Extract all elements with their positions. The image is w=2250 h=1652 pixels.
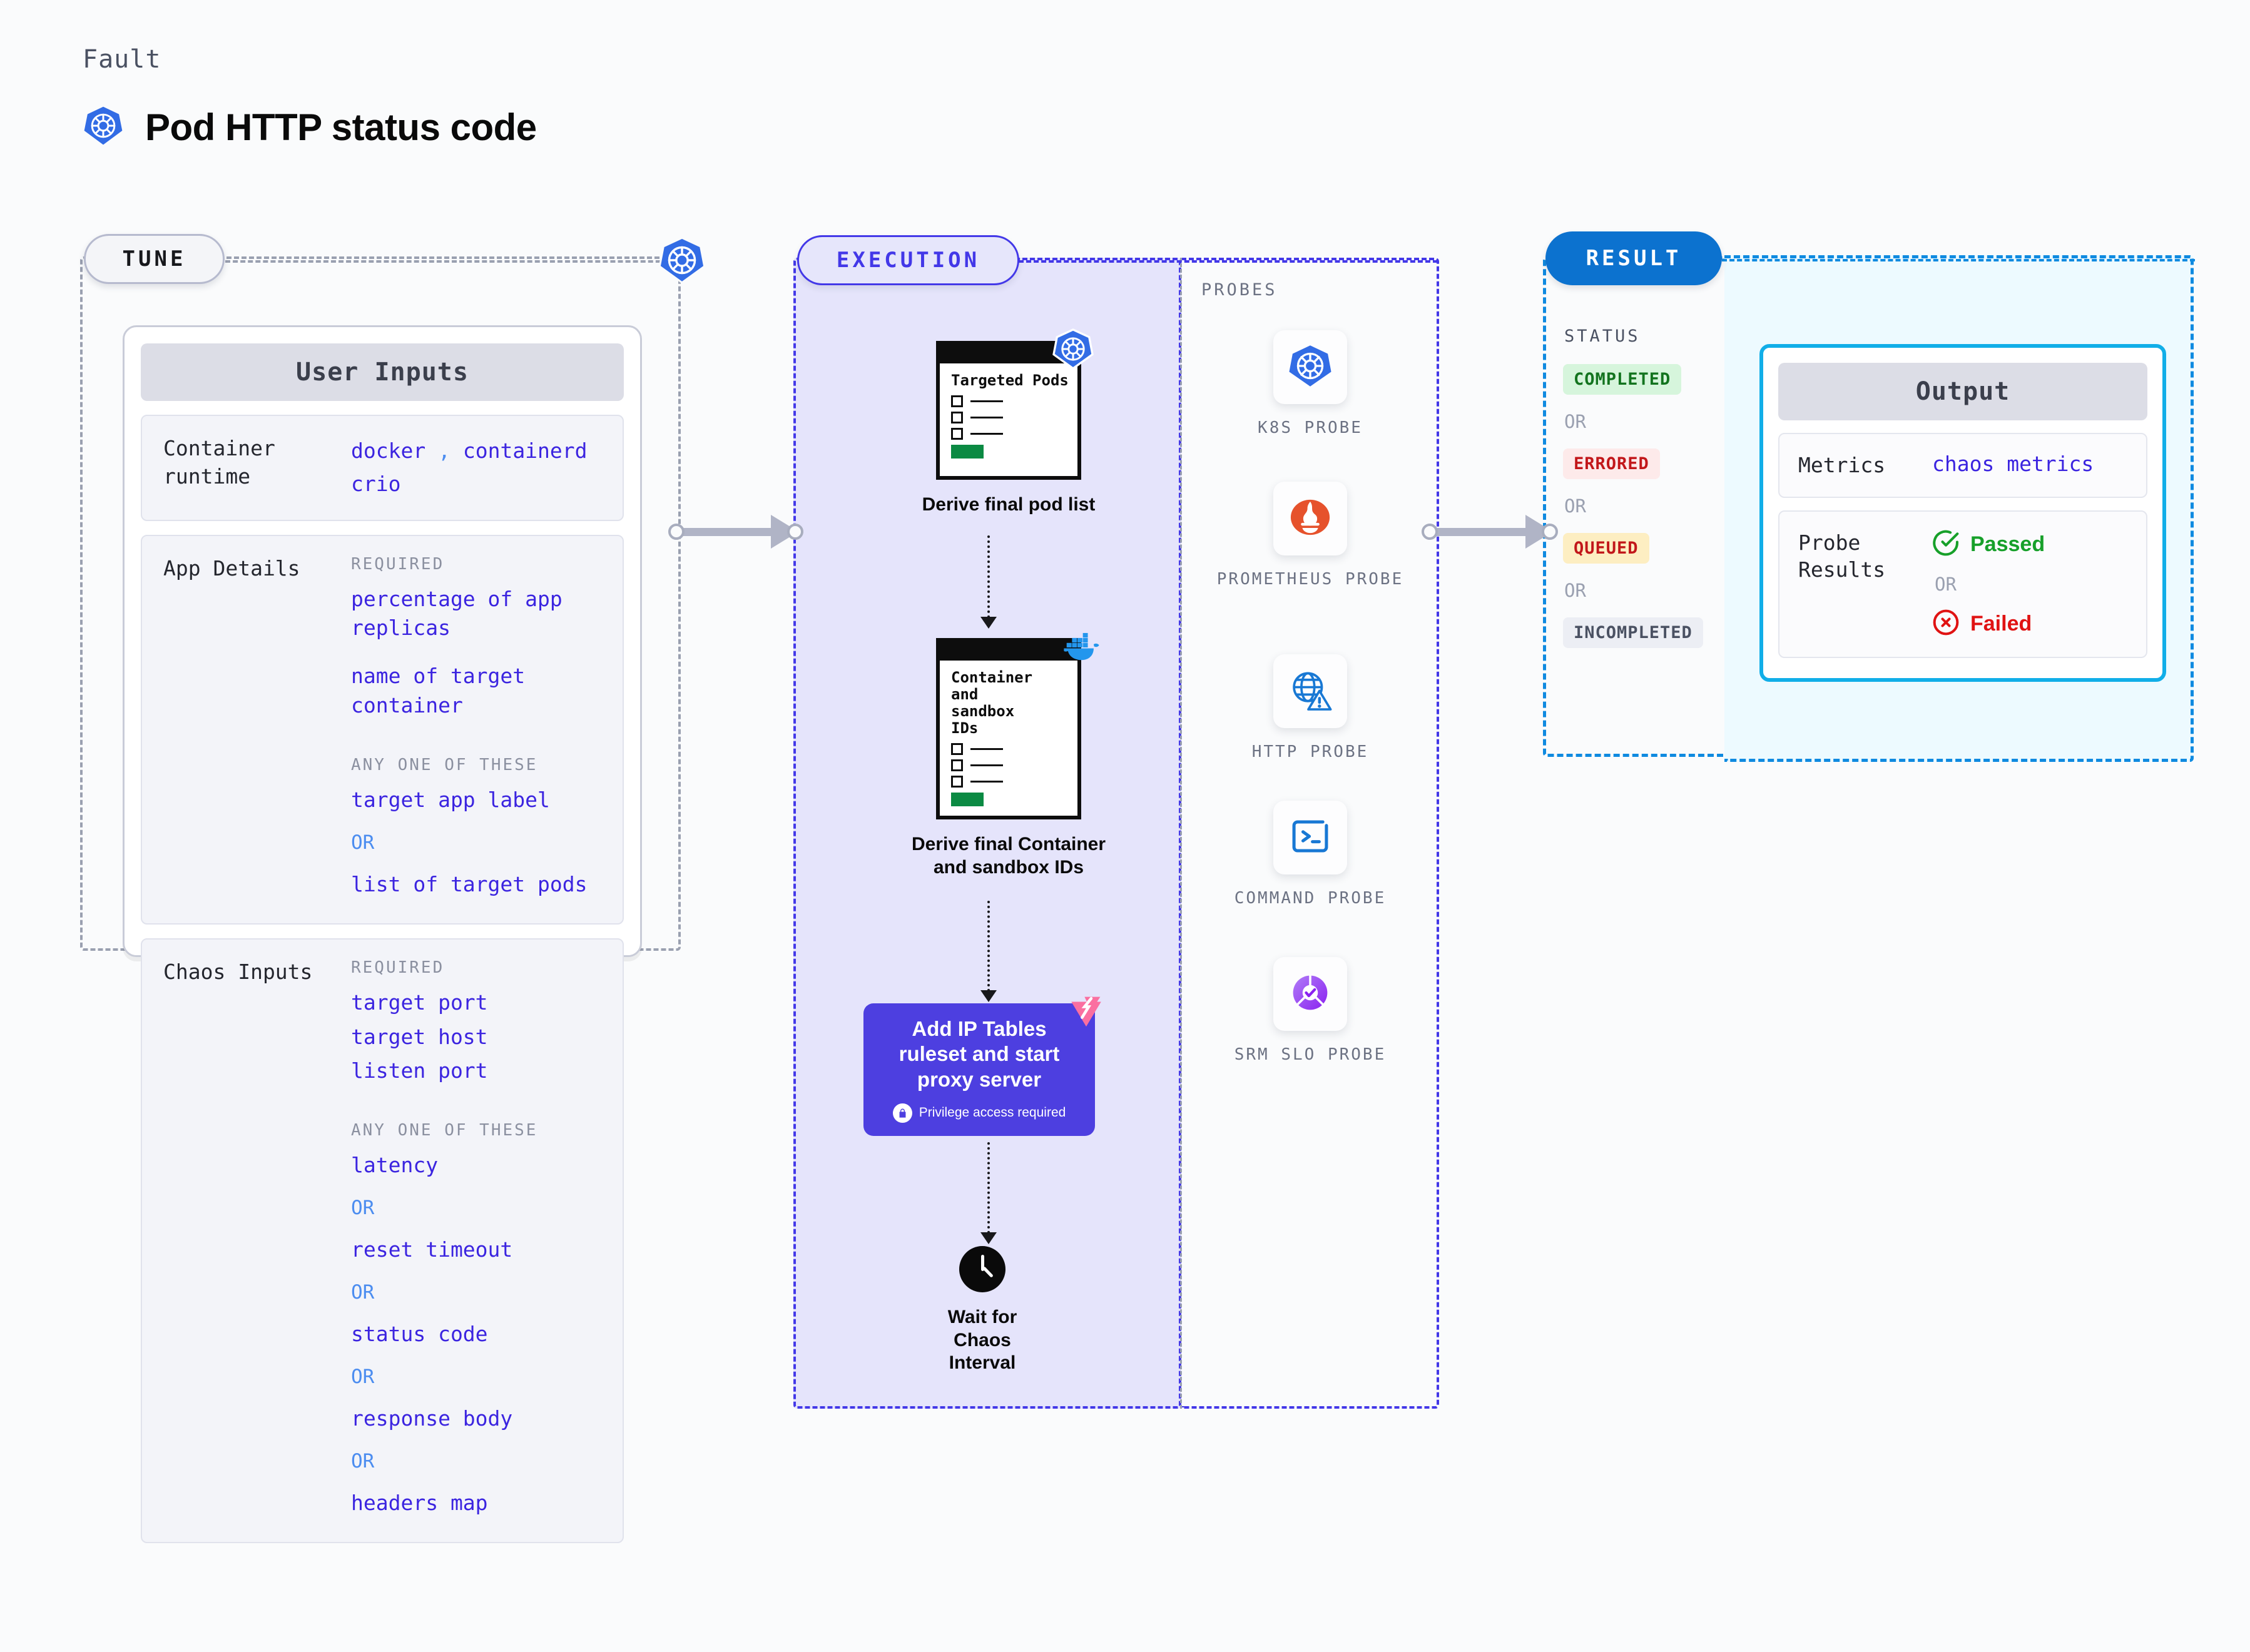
lock-icon xyxy=(893,1103,912,1123)
doc-heading: Container and sandbox IDs xyxy=(951,669,1026,737)
user-inputs-header: User Inputs xyxy=(141,343,624,401)
runtime-separator: , xyxy=(438,438,451,463)
step-caption: Derive final Container and sandbox IDs xyxy=(896,833,1121,879)
probe-results-body: Passed OR Failed xyxy=(1932,529,2045,639)
chaos-inputs-required-2: listen port xyxy=(351,1057,601,1086)
chaos-inputs-row: Chaos Inputs REQUIRED target port target… xyxy=(141,938,624,1543)
doc-checklist-line xyxy=(951,759,1077,771)
status-badge-errored: ERRORED xyxy=(1563,448,1660,479)
diagram-canvas: Fault Pod HTTP status code xyxy=(0,0,2250,1652)
doc-checklist-line xyxy=(951,743,1077,755)
flow-arrow-1 xyxy=(980,617,997,629)
doc-status-bar xyxy=(951,793,984,806)
flow-arrow-3 xyxy=(980,1232,997,1244)
probe-tile xyxy=(1273,330,1347,404)
kubernetes-icon xyxy=(83,105,124,149)
chaos-inputs-anyone-4: headers map xyxy=(351,1489,601,1518)
flow-line-2 xyxy=(987,901,990,991)
probe-passed-label: Passed xyxy=(1970,532,2045,557)
doc-checklist-line xyxy=(951,428,1077,440)
connector-end-dot xyxy=(787,524,803,540)
metrics-label: Metrics xyxy=(1798,452,1917,479)
doc-status-bar xyxy=(951,445,984,459)
connector-line xyxy=(680,528,776,536)
app-details-row: App Details REQUIRED percentage of app r… xyxy=(141,535,624,925)
output-probe-results-row: Probe Results Passed OR xyxy=(1778,510,2147,658)
probe-label: PROMETHEUS PROBE xyxy=(1216,568,1404,591)
status-badge-incompleted: INCOMPLETED xyxy=(1563,617,1703,648)
probe-tile xyxy=(1273,801,1347,874)
connector-probes-to-result xyxy=(1422,515,1558,549)
probe-command[interactable]: COMMAND PROBE xyxy=(1216,801,1404,910)
tune-leader-line xyxy=(225,260,676,263)
probe-label: K8S PROBE xyxy=(1216,417,1404,440)
connector-line xyxy=(1433,528,1530,536)
probe-k8s[interactable]: K8S PROBE xyxy=(1216,330,1404,440)
app-details-anyone-0: target app label xyxy=(351,786,601,815)
runtime-value-docker: docker xyxy=(351,438,425,463)
probe-prometheus[interactable]: PROMETHEUS PROBE xyxy=(1216,482,1404,591)
step-caption: Wait for Chaos Interval xyxy=(926,1306,1039,1375)
status-or-2: OR xyxy=(1564,580,1719,601)
probe-results-or: OR xyxy=(1935,574,2045,595)
container-runtime-label: Container runtime xyxy=(163,435,339,501)
globe-warning-icon xyxy=(1287,667,1333,716)
probe-label: HTTP PROBE xyxy=(1216,741,1404,764)
chaos-inputs-or-0: OR xyxy=(351,1197,601,1219)
app-details-required-0: percentage of app replicas xyxy=(351,585,601,644)
chaos-inputs-label: Chaos Inputs xyxy=(163,958,339,1523)
stage-badge-tune[interactable]: TUNE xyxy=(84,234,225,284)
result-leader-line xyxy=(1722,259,2195,261)
output-header: Output xyxy=(1778,363,2147,420)
kubernetes-icon xyxy=(1286,342,1335,393)
status-badge-completed: COMPLETED xyxy=(1563,364,1681,395)
connector-start-dot xyxy=(1422,524,1438,540)
chaos-inputs-anyone-2: status code xyxy=(351,1320,601,1349)
container-runtime-values: docker , containerd crio xyxy=(351,435,601,501)
chaos-inputs-required-0: target port xyxy=(351,988,601,1018)
kubernetes-icon xyxy=(1052,328,1094,370)
probe-label: COMMAND PROBE xyxy=(1216,887,1404,910)
probe-srm-slo[interactable]: SRM SLO PROBE xyxy=(1216,957,1404,1067)
connector-tune-to-execution xyxy=(668,515,803,549)
clock-icon xyxy=(959,1246,1005,1292)
slo-gauge-icon xyxy=(1288,970,1333,1018)
probes-title: PROBES xyxy=(1201,280,1278,300)
user-inputs-card: User Inputs Container runtime docker , c… xyxy=(123,325,642,957)
action-title: Add IP Tables ruleset and start proxy se… xyxy=(877,1016,1081,1092)
chaos-inputs-required-caption: REQUIRED xyxy=(351,958,601,977)
app-details-anyone-caption: ANY ONE OF THESE xyxy=(351,756,601,774)
status-list: COMPLETED OR ERRORED OR QUEUED OR INCOMP… xyxy=(1563,364,1719,648)
execution-step-wait-interval: Wait for Chaos Interval xyxy=(926,1246,1039,1375)
chaos-inputs-or-2: OR xyxy=(351,1366,601,1388)
execution-leader-line xyxy=(1019,260,1438,263)
probe-result-failed: Failed xyxy=(1932,609,2045,639)
container-sandbox-doc: Container and sandbox IDs xyxy=(936,638,1081,819)
chaos-inputs-anyone-1: reset timeout xyxy=(351,1235,601,1265)
probe-results-label: Probe Results xyxy=(1798,529,1917,584)
execution-step-derive-container-ids: Container and sandbox IDs Derive final C… xyxy=(896,638,1121,879)
chaos-inputs-anyone-caption: ANY ONE OF THESE xyxy=(351,1121,601,1140)
probe-failed-label: Failed xyxy=(1970,612,2032,636)
app-details-anyone-1: list of target pods xyxy=(351,870,601,899)
probes-divider xyxy=(1180,258,1182,1409)
app-details-or: OR xyxy=(351,831,601,854)
doc-checklist-line xyxy=(951,395,1077,407)
probe-tile xyxy=(1273,957,1347,1031)
chaos-inputs-required-1: target host xyxy=(351,1023,601,1052)
chaos-inputs-anyone-3: response body xyxy=(351,1404,601,1434)
connector-start-dot xyxy=(668,524,685,540)
chaos-inputs-anyone-0: latency xyxy=(351,1151,601,1180)
flow-arrow-2 xyxy=(980,990,997,1002)
chaos-inputs-or-1: OR xyxy=(351,1281,601,1304)
app-details-body: REQUIRED percentage of app replicas name… xyxy=(351,555,601,905)
metrics-value: chaos metrics xyxy=(1932,452,2094,476)
status-badge-queued: QUEUED xyxy=(1563,533,1649,564)
probe-http[interactable]: HTTP PROBE xyxy=(1216,654,1404,764)
probe-result-passed: Passed xyxy=(1932,529,2045,560)
terminal-icon xyxy=(1288,814,1333,862)
doc-heading: Targeted Pods xyxy=(951,372,1077,389)
docker-icon xyxy=(1055,629,1096,671)
probe-tile xyxy=(1273,482,1347,555)
kubernetes-icon xyxy=(658,236,706,284)
connector-end-dot xyxy=(1542,524,1558,540)
app-details-label: App Details xyxy=(163,555,339,905)
stage-badge-result[interactable]: RESULT xyxy=(1545,231,1722,285)
action-note-row: Privilege access required xyxy=(893,1103,1066,1123)
chaos-inputs-or-3: OR xyxy=(351,1450,601,1472)
app-details-required-1: name of target container xyxy=(351,662,601,721)
output-metrics-row: Metrics chaos metrics xyxy=(1778,433,2147,498)
app-details-required-caption: REQUIRED xyxy=(351,555,601,574)
action-add-iptables[interactable]: Add IP Tables ruleset and start proxy se… xyxy=(863,1003,1095,1136)
status-title: STATUS xyxy=(1564,327,1641,346)
check-circle-icon xyxy=(1932,529,1960,560)
execution-step-derive-pod-list: Targeted Pods Derive final pod list xyxy=(915,341,1102,517)
stage-badge-execution[interactable]: EXECUTION xyxy=(797,235,1019,285)
runtime-value-containerd: containerd xyxy=(463,438,588,463)
fault-eyebrow-label: Fault xyxy=(83,45,161,74)
output-card: Output Metrics chaos metrics Probe Resul… xyxy=(1759,344,2166,682)
doc-checklist-line xyxy=(951,412,1077,423)
chaos-inputs-body: REQUIRED target port target host listen … xyxy=(351,958,601,1523)
prometheus-icon xyxy=(1287,494,1333,544)
status-or-1: OR xyxy=(1564,495,1719,517)
x-circle-icon xyxy=(1932,609,1960,639)
action-note-text: Privilege access required xyxy=(919,1105,1066,1120)
step-caption: Derive final pod list xyxy=(915,494,1102,517)
litmus-icon xyxy=(1066,993,1107,1034)
probe-tile xyxy=(1273,654,1347,728)
probe-label: SRM SLO PROBE xyxy=(1216,1043,1404,1067)
page-title: Pod HTTP status code xyxy=(145,106,537,149)
doc-checklist-line xyxy=(951,776,1077,788)
flow-line-3 xyxy=(987,1142,990,1234)
status-or-0: OR xyxy=(1564,411,1719,432)
targeted-pods-doc: Targeted Pods xyxy=(936,341,1081,480)
container-runtime-row: Container runtime docker , containerd cr… xyxy=(141,415,624,521)
flow-line-1 xyxy=(987,535,990,618)
page-title-row: Pod HTTP status code xyxy=(83,105,537,149)
runtime-value-crio: crio xyxy=(351,468,601,501)
